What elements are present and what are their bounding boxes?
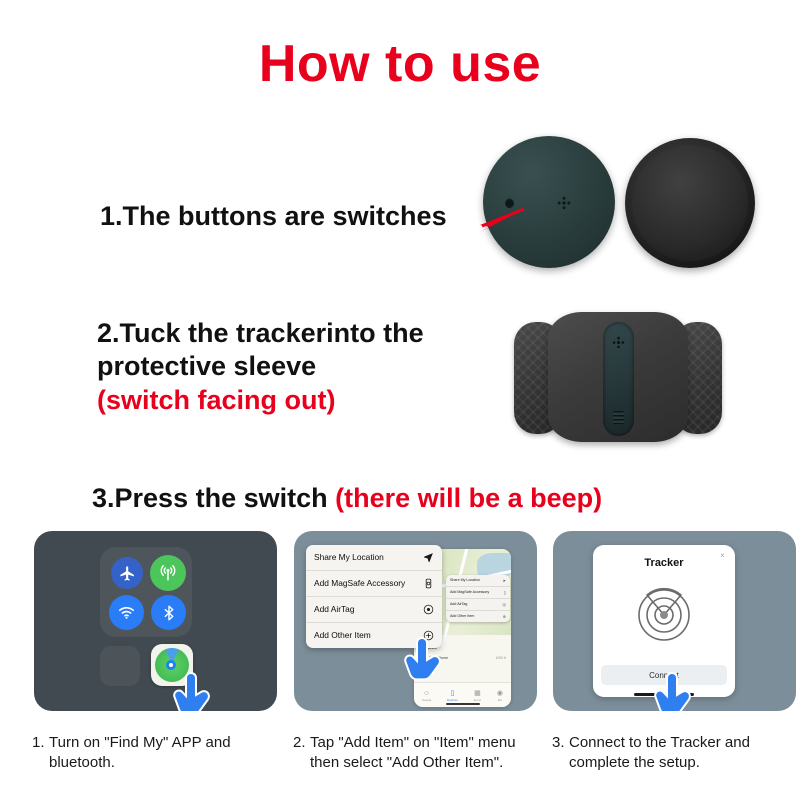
tab-items[interactable]: ▦ Items xyxy=(474,690,481,702)
hand-pointer-icon xyxy=(171,670,217,711)
devices-icon: ▯ xyxy=(451,690,455,697)
control-center-empty-tile xyxy=(100,646,140,686)
airtag-circle-icon: ◎ xyxy=(503,602,507,607)
find-my-location-dot xyxy=(166,660,176,670)
me-icon: ◉ xyxy=(497,690,503,697)
panel-tracker-dialog: Tracker × Connect xyxy=(553,531,796,711)
magsafe-device-icon xyxy=(423,578,434,589)
menu-item-label: Add MagSafe Accessory xyxy=(314,578,411,589)
menu-item-label: Share My Location xyxy=(314,552,390,563)
caption-step-3: 3. Connect to the Tracker and complete t… xyxy=(552,733,800,773)
cellular-icon xyxy=(158,563,178,583)
step-3-text: 3.Press the switch (there will be a beep… xyxy=(92,482,602,515)
page-title: How to use xyxy=(0,38,800,90)
mini-menu-item-label: Add Other Item xyxy=(450,614,474,618)
mini-menu-item-label: Add MagSafe Accessory xyxy=(450,590,489,594)
menu-item-share-my-location[interactable]: Share My Location xyxy=(306,545,442,571)
items-icon: ▦ xyxy=(474,690,481,697)
tracker-front-face xyxy=(483,136,615,268)
speaker-grille-icon xyxy=(556,195,572,211)
phone-device-distance: 4000 ft xyxy=(496,656,506,660)
tab-label: People xyxy=(422,698,431,702)
close-icon[interactable]: × xyxy=(717,550,728,561)
people-icon: ☺ xyxy=(423,690,430,697)
menu-item-add-airtag[interactable]: Add AirTag xyxy=(306,597,442,623)
bluetooth-icon xyxy=(160,604,178,622)
send-arrow-icon xyxy=(423,552,434,563)
sleeve-grip-ridges xyxy=(613,411,624,424)
airtag-circle-icon xyxy=(423,604,434,615)
cellular-data-toggle[interactable] xyxy=(150,555,186,591)
find-my-context-menu: Share My Location Add MagSafe Accessory … xyxy=(306,545,442,648)
radar-icon xyxy=(633,581,695,643)
panel-find-my-menu: Share My Location ➤ Add MagSafe Accessor… xyxy=(294,531,537,711)
home-indicator xyxy=(446,703,480,705)
hand-pointer-icon xyxy=(401,635,449,687)
mini-menu-item[interactable]: Add MagSafe Accessory ▯ xyxy=(446,587,510,599)
step-2-text: 2.Tuck the trackerinto the protective sl… xyxy=(97,317,517,417)
airplane-mode-toggle[interactable] xyxy=(111,557,143,589)
control-center-toggle-group xyxy=(100,547,192,637)
tab-label: Devices xyxy=(447,698,458,702)
mini-menu-item-label: Share My Location xyxy=(450,578,480,582)
menu-item-label: Add Other Item xyxy=(314,630,377,641)
step-3-main: 3.Press the switch xyxy=(92,483,335,513)
menu-item-label: Add AirTag xyxy=(314,604,361,615)
caption-number: 3. xyxy=(552,733,565,753)
tab-people[interactable]: ☺ People xyxy=(422,690,431,702)
protective-sleeve xyxy=(512,306,724,446)
mini-menu-item[interactable]: Share My Location ➤ xyxy=(446,575,510,587)
tab-me[interactable]: ◉ Me xyxy=(497,690,503,702)
caption-text: Connect to the Tracker and complete the … xyxy=(552,733,800,773)
tab-devices[interactable]: ▯ Devices xyxy=(447,690,458,702)
tab-label: Items xyxy=(474,698,481,702)
magsafe-device-icon: ▯ xyxy=(504,590,506,595)
caption-number: 2. xyxy=(293,733,306,753)
caption-text: Turn on "Find My" APP and bluetooth. xyxy=(32,733,277,773)
caption-number: 1. xyxy=(32,733,45,753)
step-2-line-2: protective sleeve xyxy=(97,351,316,381)
plus-circle-icon: ⊕ xyxy=(503,614,506,619)
speaker-grille-icon xyxy=(611,335,626,350)
bluetooth-toggle[interactable] xyxy=(151,595,186,630)
step-2-line-1: 2.Tuck the trackerinto the xyxy=(97,318,424,348)
airplane-icon xyxy=(119,565,136,582)
step-1-text: 1.The buttons are switches xyxy=(100,200,447,233)
dialog-title: Tracker xyxy=(593,557,735,569)
menu-item-add-magsafe-accessory[interactable]: Add MagSafe Accessory xyxy=(306,571,442,597)
send-arrow-icon: ➤ xyxy=(503,578,506,583)
mini-menu-item-label: Add AirTag xyxy=(450,602,467,606)
panel-control-center xyxy=(34,531,277,711)
tab-label: Me xyxy=(498,698,502,702)
wifi-toggle[interactable] xyxy=(109,595,144,630)
sleeve-body xyxy=(548,312,688,442)
mini-menu-item[interactable]: Add AirTag ◎ xyxy=(446,599,510,611)
step-3-note: (there will be a beep) xyxy=(335,483,602,513)
tracker-back-face xyxy=(625,138,755,268)
red-arrow-pointer xyxy=(466,205,526,239)
caption-step-2: 2. Tap "Add Item" on "Item" menu then se… xyxy=(293,733,538,773)
mini-menu-preview: Share My Location ➤ Add MagSafe Accessor… xyxy=(446,575,510,622)
mini-menu-item[interactable]: Add Other Item ⊕ xyxy=(446,611,510,622)
caption-step-1: 1. Turn on "Find My" APP and bluetooth. xyxy=(32,733,277,773)
caption-text: Tap "Add Item" on "Item" menu then selec… xyxy=(293,733,538,773)
sleeve-tracker-slot xyxy=(603,322,634,436)
step-2-note: (switch facing out) xyxy=(97,384,517,417)
hand-pointer-icon xyxy=(652,670,698,711)
wifi-icon xyxy=(117,603,136,622)
